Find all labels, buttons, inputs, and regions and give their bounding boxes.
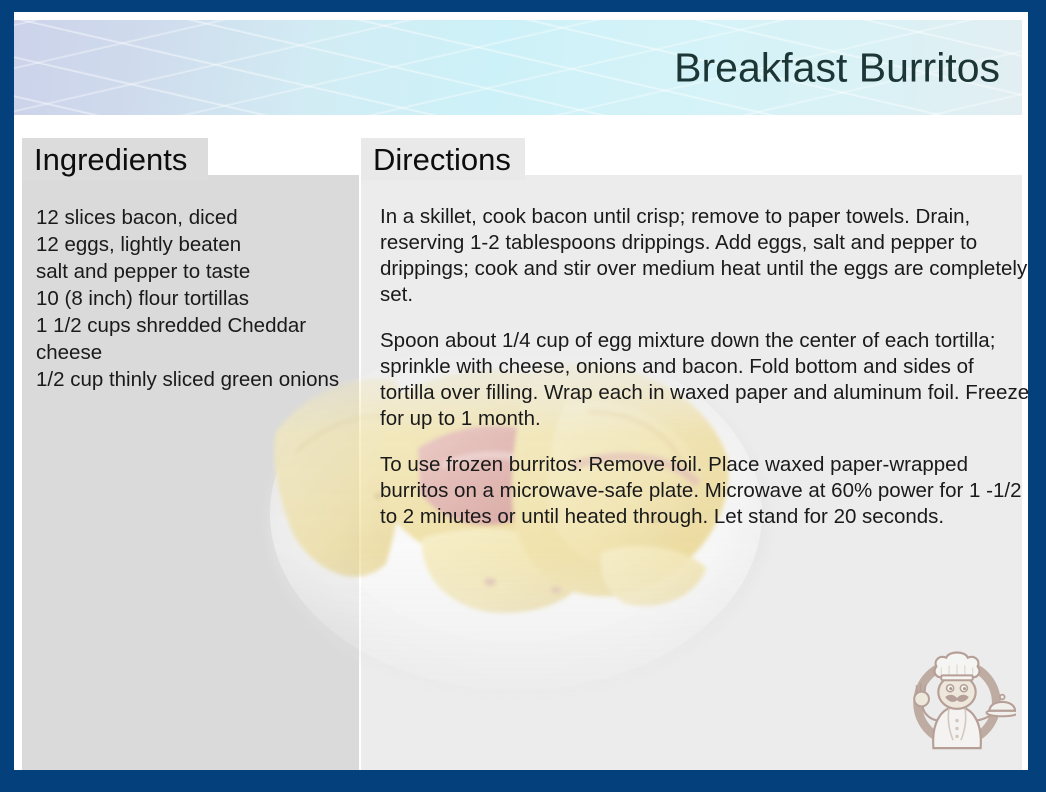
- page-title: Breakfast Burritos: [674, 45, 1000, 90]
- directions-section-header: Directions: [361, 138, 525, 180]
- title-banner: Breakfast Burritos: [14, 20, 1022, 115]
- ingredient-item: 1 1/2 cups shredded Cheddar cheese: [36, 312, 366, 366]
- ingredients-header-label: Ingredients: [34, 144, 187, 175]
- directions-body: In a skillet, cook bacon until crisp; re…: [380, 204, 1028, 530]
- direction-paragraph: In a skillet, cook bacon until crisp; re…: [380, 204, 1028, 308]
- ingredient-item: 12 slices bacon, diced: [36, 204, 366, 231]
- slide-canvas: Breakfast Burritos: [14, 12, 1028, 770]
- direction-paragraph: Spoon about 1/4 cup of egg mixture down …: [380, 328, 1028, 432]
- chef-mascot-logo-icon: [898, 638, 1016, 756]
- ingredient-item: 12 eggs, lightly beaten: [36, 231, 366, 258]
- ingredients-section-header: Ingredients: [22, 138, 208, 180]
- recipe-slide: Breakfast Burritos: [0, 0, 1046, 792]
- direction-paragraph: To use frozen burritos: Remove foil. Pla…: [380, 452, 1028, 530]
- ingredient-item: 1/2 cup thinly sliced green onions: [36, 366, 366, 393]
- ingredient-item: 10 (8 inch) flour tortillas: [36, 285, 366, 312]
- directions-header-label: Directions: [373, 144, 511, 175]
- ingredient-item: salt and pepper to taste: [36, 258, 366, 285]
- ingredients-list: 12 slices bacon, diced12 eggs, lightly b…: [36, 204, 366, 393]
